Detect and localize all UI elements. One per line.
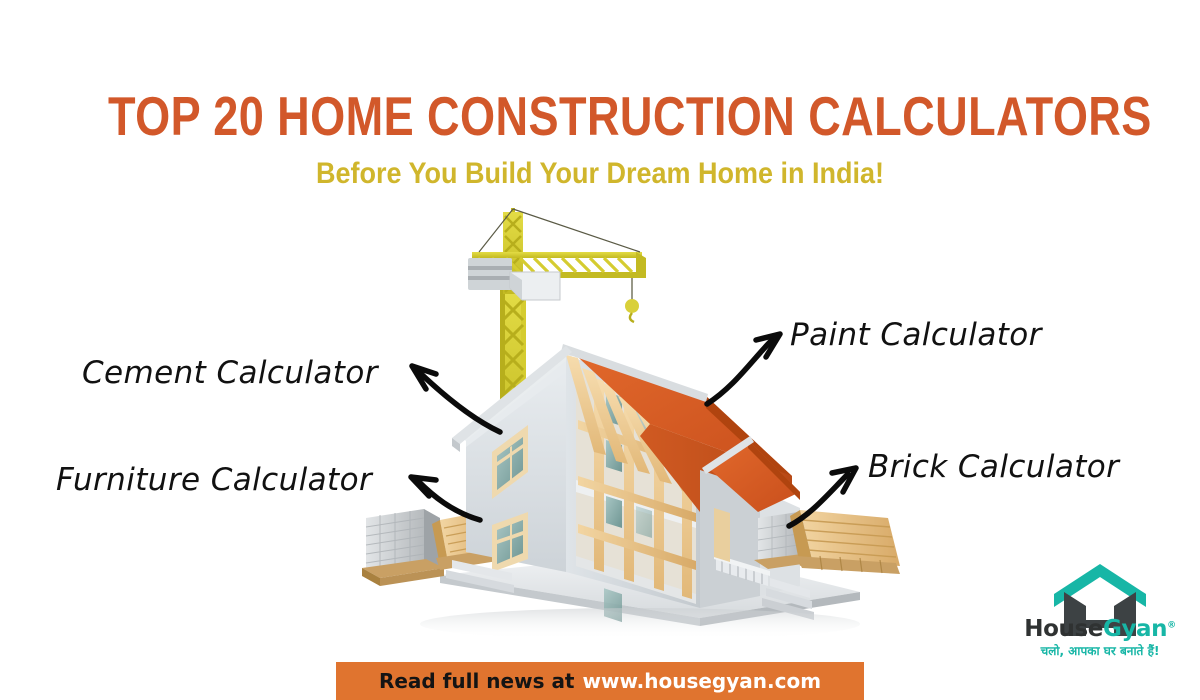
arrow-paint-icon [707,334,780,404]
logo-registered-mark: ® [1167,620,1176,630]
cta-bar[interactable]: Read full news at www.housegyan.com [336,662,864,700]
timber-stack-right [790,510,900,574]
concrete-block-pallet-left [362,509,444,586]
callout-label-furniture: Furniture Calculator [56,462,372,498]
logo-wordmark: HouseGyan® [1022,616,1178,642]
callout-label-brick: Brick Calculator [868,449,1119,485]
page-subtitle: Before You Build Your Dream Home in Indi… [60,157,1140,191]
page-title: TOP 20 HOME CONSTRUCTION CALCULATORS [108,88,1092,146]
cta-read-text: Read full news at [379,669,575,693]
callout-label-cement: Cement Calculator [82,355,378,391]
logo-word-gyan: Gyan [1103,616,1167,642]
cta-website-url[interactable]: www.housegyan.com [583,669,822,693]
logo-word-house: House [1024,616,1103,642]
logo-tagline: चलो, आपका घर बनाते हैं! [1022,642,1178,659]
housegyan-logo[interactable]: HouseGyan® चलो, आपका घर बनाते हैं! [1022,558,1178,662]
arrow-cement-icon [412,366,500,432]
callout-label-paint: Paint Calculator [790,317,1042,353]
infographic-poster: TOP 20 HOME CONSTRUCTION CALCULATORS Bef… [0,0,1200,700]
